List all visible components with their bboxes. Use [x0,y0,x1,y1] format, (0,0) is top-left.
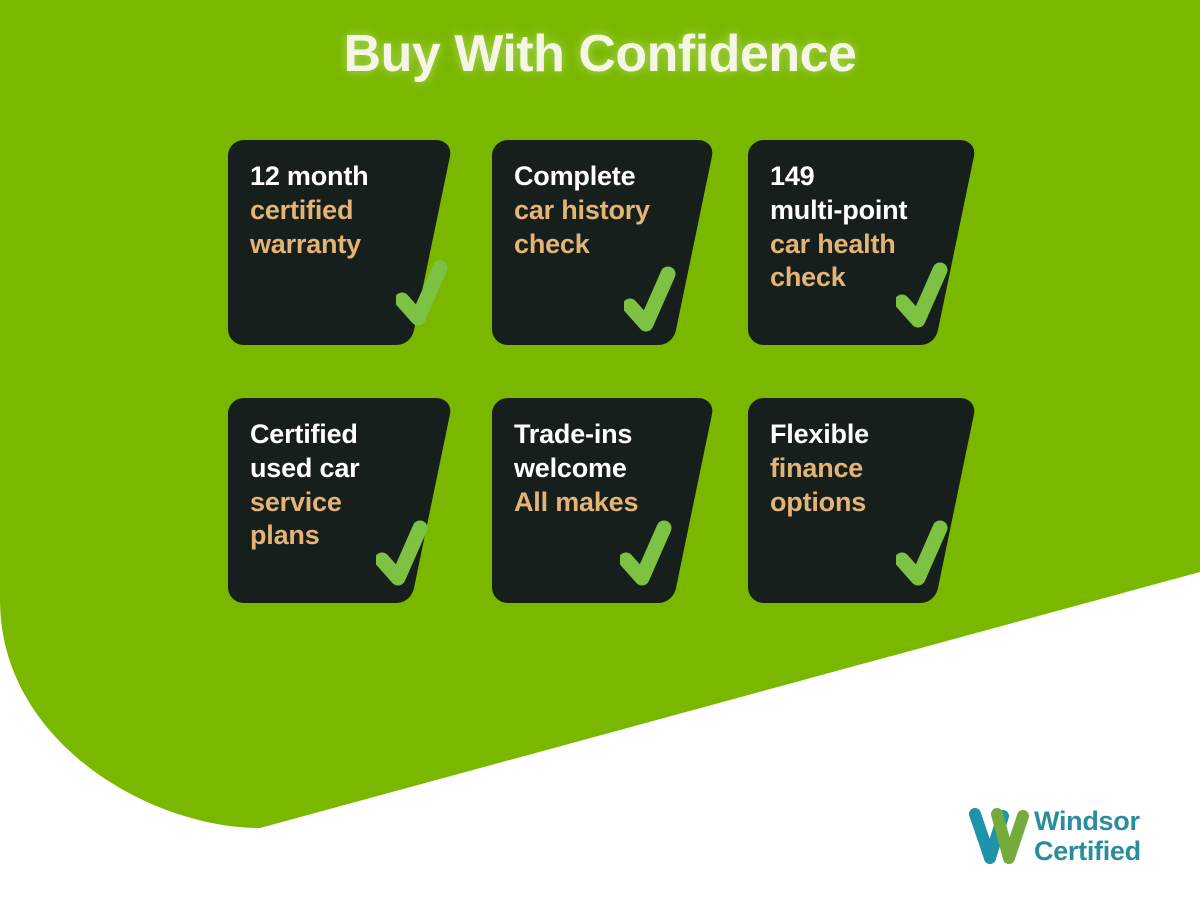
card-line-1: Flexible [770,418,975,452]
feature-card-history-check[interactable]: Complete car history check [492,140,714,345]
check-mark-icon [376,520,436,592]
card-line-2: multi-point [770,194,975,228]
card-line-1: 149 [770,160,975,194]
card-line-1: 12 month [250,160,440,194]
feature-card-finance-options[interactable]: Flexible finance options [748,398,976,603]
feature-card-service-plans[interactable]: Certified used car service plans [228,398,452,603]
brand-logo[interactable]: Windsor Certified [968,806,1164,872]
feature-card-grid: 12 month certified warranty Complete car… [0,0,1200,900]
card-line-2: car history [514,194,704,228]
card-line-2: used car [250,452,440,486]
card-line-2: welcome [514,452,704,486]
check-mark-icon [620,520,680,592]
card-line-1: Certified [250,418,440,452]
feature-card-warranty[interactable]: 12 month certified warranty [228,140,452,345]
card-line-2: certified [250,194,440,228]
check-mark-icon [896,262,956,334]
feature-card-trade-ins[interactable]: Trade-ins welcome All makes [492,398,714,603]
card-line-3: All makes [514,486,704,520]
card-line-2: finance [770,452,975,486]
feature-card-health-check[interactable]: 149 multi-point car health check [748,140,976,345]
check-mark-icon [624,266,684,338]
check-mark-icon [896,520,956,592]
card-line-1: Trade-ins [514,418,704,452]
card-line-3: warranty [250,228,440,262]
card-text: Trade-ins welcome All makes [514,418,704,519]
card-line-3: check [514,228,704,262]
logo-wordmark: Windsor Certified [1034,806,1141,866]
card-line-1: Complete [514,160,704,194]
card-line-3: car health [770,228,975,262]
logo-word-windsor: Windsor [1034,806,1141,836]
card-line-3: options [770,486,975,520]
windsor-w-icon [968,808,1030,868]
card-text: 12 month certified warranty [250,160,440,261]
banner-canvas: Buy With Confidence 12 month certified w… [0,0,1200,900]
card-text: Complete car history check [514,160,704,261]
card-text: Flexible finance options [770,418,975,519]
check-mark-icon [396,260,456,332]
card-line-3: service [250,486,440,520]
logo-word-certified: Certified [1034,836,1141,866]
